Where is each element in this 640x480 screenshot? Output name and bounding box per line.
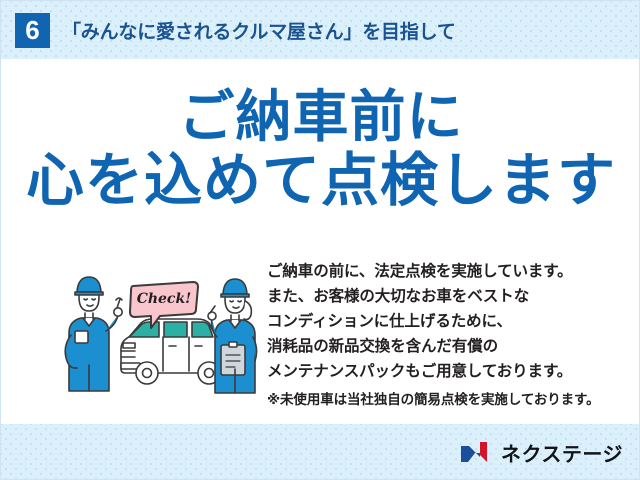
brand-lockup: ネクステージ — [460, 438, 623, 467]
header-title: 「みんなに愛されるクルマ屋さん」を目指して — [62, 17, 456, 44]
headline: ご納車前に 心を込めて点検します — [1, 85, 640, 214]
body-copy-line: コンディションに仕上げるために、 — [267, 309, 617, 334]
step-number-badge: 6 — [15, 13, 50, 48]
brand-name: ネクステージ — [501, 438, 623, 467]
banner-footer: ネクステージ — [1, 424, 640, 480]
body-copy: ご納車の前に、法定点検を実施しています。 また、お客様の大切なお車をベストな コ… — [267, 259, 617, 410]
body-copy-line: また、お客様の大切なお車をベストな — [267, 284, 617, 309]
mechanic-right-figure — [208, 279, 257, 393]
headline-line-1: ご納車前に — [1, 85, 640, 148]
check-bubble-label: Check! — [137, 291, 192, 307]
banner-header: 6 「みんなに愛されるクルマ屋さん」を目指して — [1, 1, 640, 59]
body-copy-note: ※未使用車は当社独自の簡易点検を実施しております。 — [267, 389, 617, 411]
body-copy-line: 消耗品の新品交換を含んだ有償の — [267, 334, 617, 359]
nextage-logo-icon — [460, 441, 494, 463]
mechanics-van-illustration: Check! — [63, 273, 261, 401]
headline-line-2: 心を込めて点検します — [1, 148, 640, 214]
mechanic-left-figure — [65, 277, 122, 391]
promo-banner: 6 「みんなに愛されるクルマ屋さん」を目指して ご納車前に 心を込めて点検します — [0, 0, 640, 480]
van-illustration — [121, 319, 223, 384]
body-copy-line: ご納車の前に、法定点検を実施しています。 — [267, 259, 617, 284]
body-copy-line: メンテナンスパックもご用意しております。 — [267, 359, 617, 384]
